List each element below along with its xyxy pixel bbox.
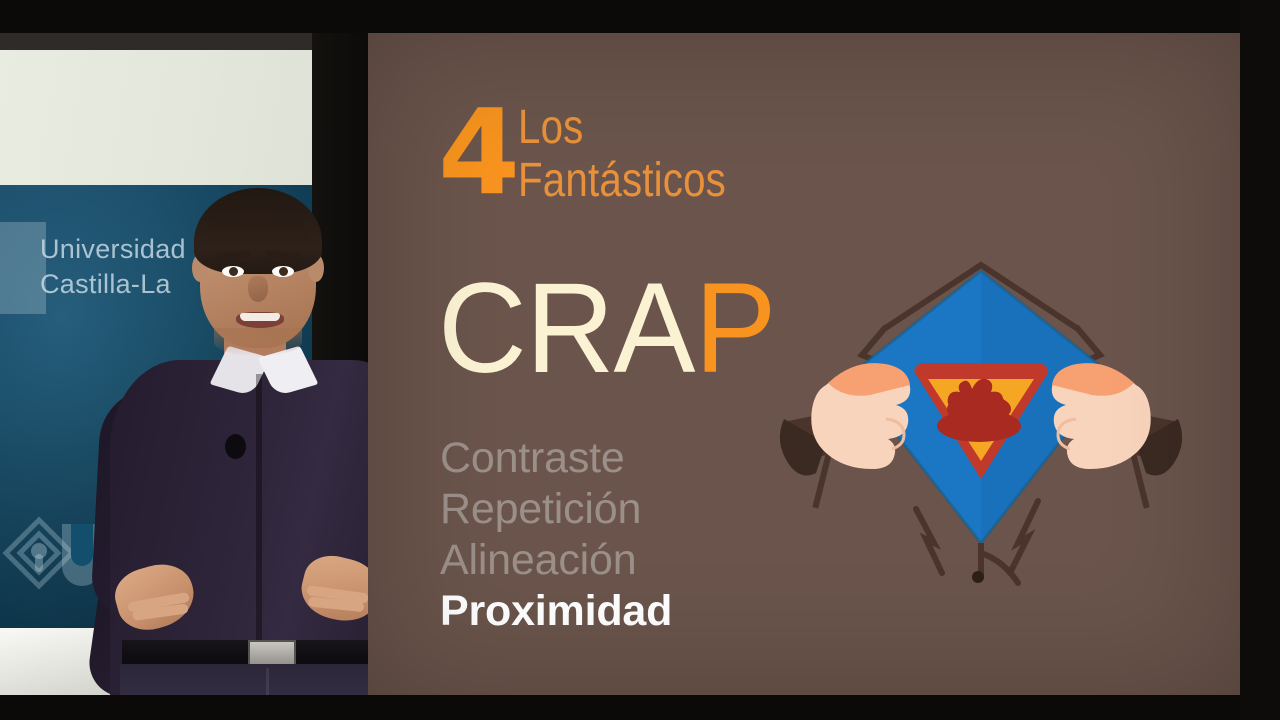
slide-number-4: 4 (438, 93, 516, 211)
slide-header-text: Los Fantásticos (518, 101, 770, 207)
slide-header-line-2: Fantásticos (518, 154, 770, 207)
presentation-slide: 4 Los Fantásticos CRAP Contraste Repetic… (368, 33, 1240, 695)
acronym-light-part: CRA (438, 257, 695, 400)
presenter-chin-shadow (214, 328, 302, 356)
superhero-tearing-shirt-icon (766, 243, 1196, 643)
hero-right-hand (1052, 363, 1182, 475)
slide-header: 4 Los Fantásticos (438, 91, 798, 221)
presenter-teeth (240, 313, 280, 321)
presenter-pupil-right (279, 267, 288, 276)
slide-acronym: CRAP (438, 265, 776, 393)
presenter-nose (248, 276, 268, 302)
frame-bottom-bar (0, 695, 1280, 720)
hero-left-hand (780, 363, 910, 475)
wall-panel (0, 50, 312, 185)
slide-header-line-1: Los (518, 101, 770, 154)
presenter-shirt-placket (256, 374, 262, 674)
lapel-microphone-icon (225, 434, 246, 459)
presenter-hair (194, 188, 322, 274)
video-frame: Universidad Castilla-La (0, 0, 1280, 720)
frame-top-bar (0, 0, 1280, 33)
acronym-accent-part: P (695, 257, 776, 400)
frame-right-bar (1240, 0, 1280, 720)
presenter-pupil-left (229, 267, 238, 276)
